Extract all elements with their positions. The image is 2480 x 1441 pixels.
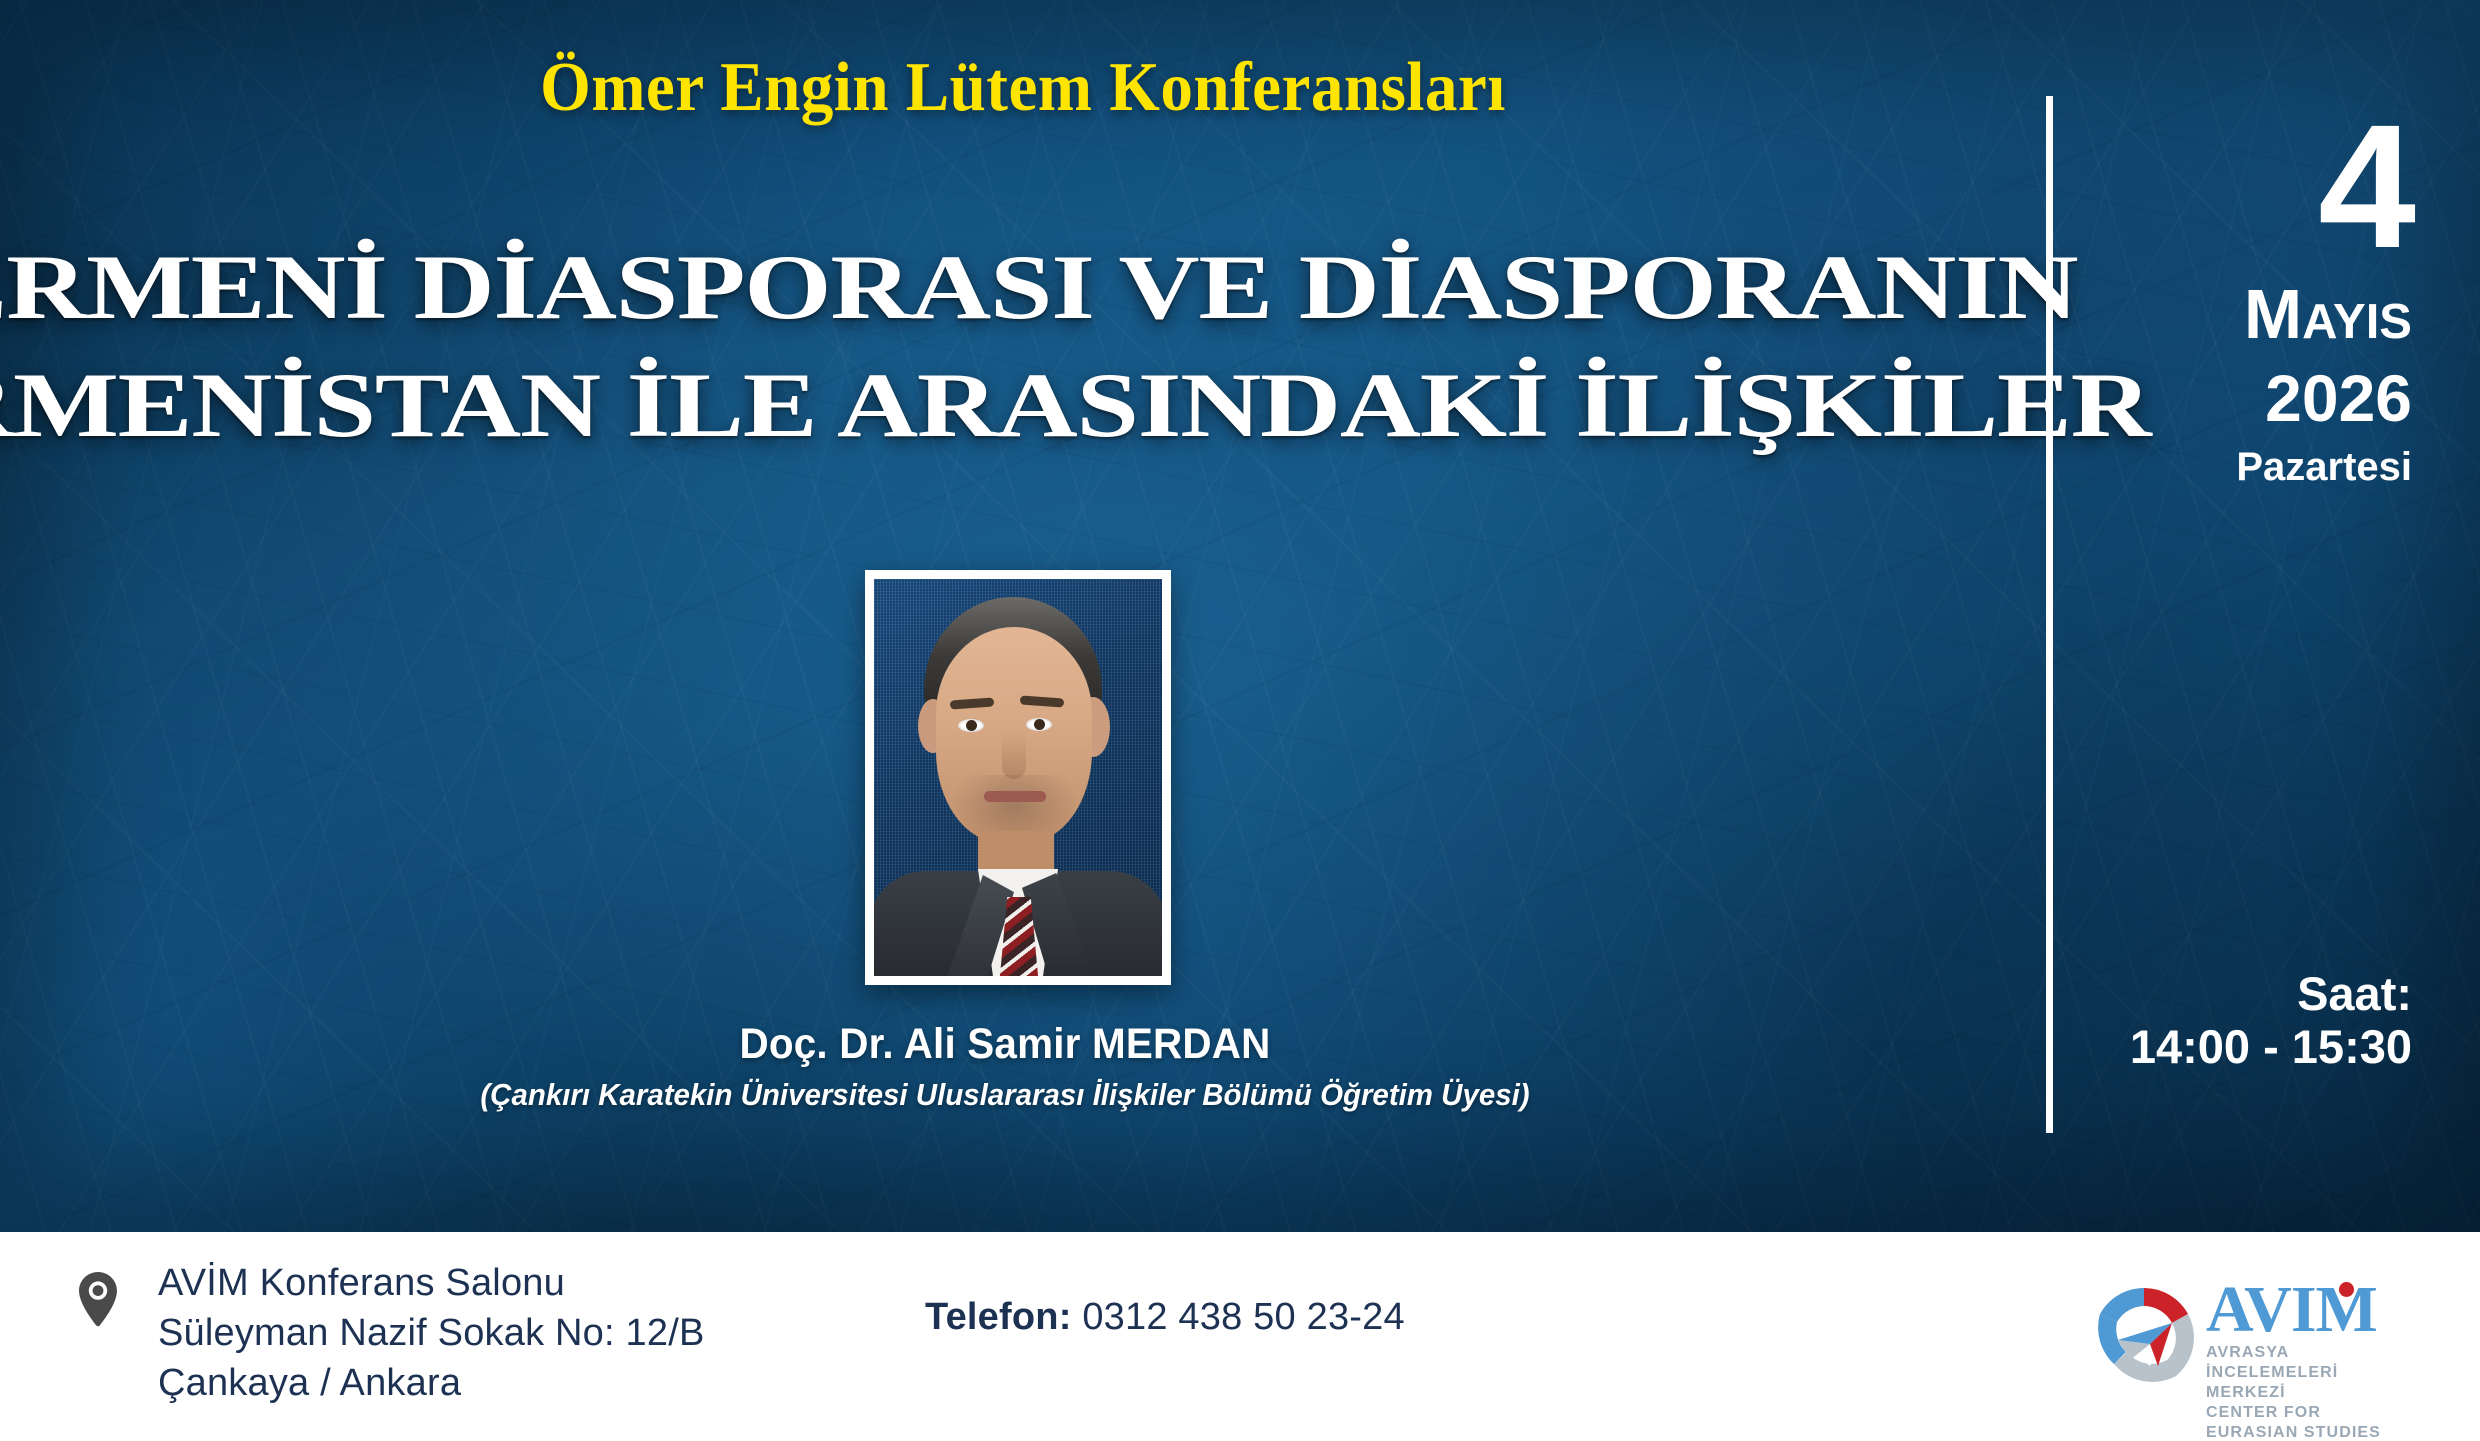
- avim-wordmark-group: AVIM AVRASYA İNCELEMELERİ MERKEZİ CENTER…: [2206, 1278, 2418, 1441]
- page-title: ERMENİ DİASPORASI VE DİASPORANIN ERMENİS…: [0, 240, 2010, 475]
- avim-logo: AVIM AVRASYA İNCELEMELERİ MERKEZİ CENTER…: [2088, 1278, 2418, 1396]
- date-weekday: Pazartesi: [2090, 447, 2442, 487]
- series-title: Ömer Engin Lütem Konferansları: [72, 48, 1975, 128]
- speaker-name: Doç. Dr. Ali Samir MERDAN: [60, 1020, 1949, 1069]
- phone-value: 0312 438 50 23-24: [1082, 1296, 1404, 1338]
- date-month: Mayıs: [2090, 279, 2442, 349]
- venue-line-3: Çankaya / Ankara: [158, 1358, 705, 1408]
- speaker-photo-frame: [865, 570, 1171, 985]
- avim-subtitle-en: CENTER FOR EURASIAN STUDIES: [2206, 1403, 2418, 1441]
- event-poster: Ömer Engin Lütem Konferansları ERMENİ Dİ…: [0, 0, 2480, 1441]
- venue-line-2: Süleyman Nazif Sokak No: 12/B: [158, 1308, 705, 1358]
- date-day: 4: [2090, 110, 2442, 265]
- portrait-pupil-right: [1034, 719, 1045, 730]
- headline-line-1: ERMENİ DİASPORASI VE DİASPORANIN: [0, 240, 2231, 336]
- speaker-photo: [874, 579, 1162, 976]
- date-year: 2026: [2090, 365, 2442, 431]
- speaker-affiliation: (Çankırı Karatekin Üniversitesi Uluslara…: [50, 1077, 1960, 1113]
- phone-info: Telefon: 0312 438 50 23-24: [925, 1296, 1405, 1339]
- phone-label: Telefon:: [925, 1296, 1072, 1338]
- portrait-mouth: [984, 791, 1046, 802]
- avim-emblem-icon: [2088, 1282, 2200, 1394]
- venue-address: AVİM Konferans Salonu Süleyman Nazif Sok…: [158, 1258, 705, 1408]
- avim-subtitle-tr: AVRASYA İNCELEMELERİ MERKEZİ: [2206, 1343, 2418, 1403]
- event-time: Saat: 14:00 - 15:30: [2090, 968, 2442, 1073]
- headline-line-2: ERMENİSTAN İLE ARASINDAKİ İLİŞKİLER: [0, 358, 2231, 454]
- portrait-nose: [1002, 731, 1026, 779]
- venue-line-1: AVİM Konferans Salonu: [158, 1258, 705, 1308]
- portrait-pupil-left: [966, 720, 977, 731]
- avim-logo-dot-icon: [2339, 1282, 2354, 1297]
- vertical-divider: [2046, 96, 2053, 1133]
- time-label: Saat:: [2090, 968, 2442, 1021]
- time-value: 14:00 - 15:30: [2090, 1021, 2442, 1074]
- avim-wordmark: AVIM: [2206, 1278, 2418, 1343]
- event-date: 4 Mayıs 2026 Pazartesi: [2090, 110, 2442, 487]
- location-pin-icon: [77, 1272, 119, 1328]
